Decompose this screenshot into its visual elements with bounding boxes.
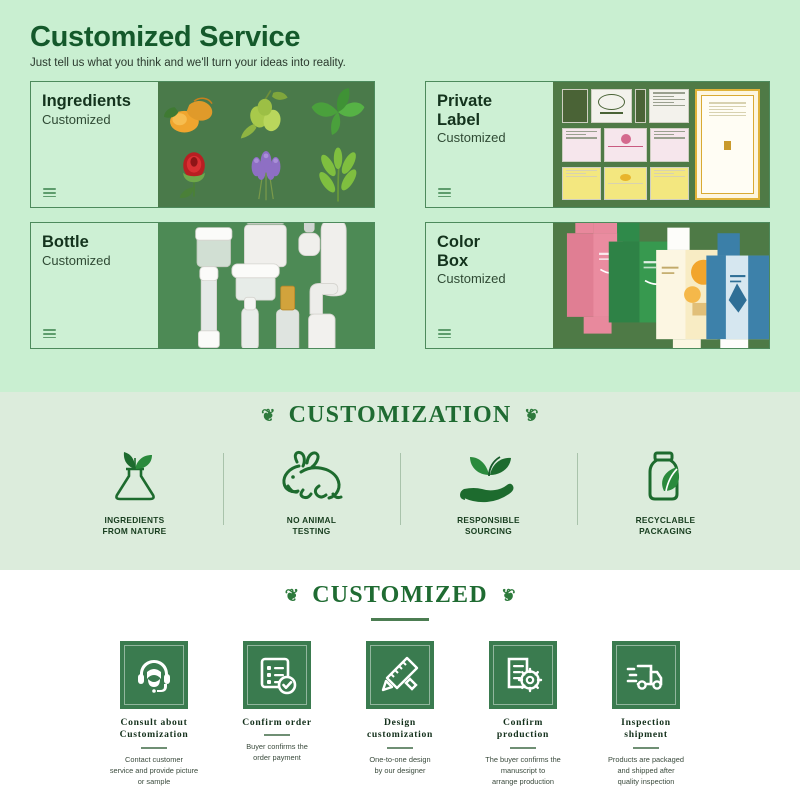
customized-heading: ❦ CUSTOMIZED ❦ [0,582,800,609]
delivery-truck-icon [626,655,666,695]
feature-recyclable-packaging: RECYCLABLE PACKAGING [602,447,730,537]
step-rule [264,734,290,736]
process-step-inspection: Inspection shipment Products are package… [591,641,701,788]
customization-heading-text: CUSTOMIZATION [289,402,512,429]
step-icon-tile [120,641,188,709]
card-title: Bottle [42,233,158,251]
service-card-color-box[interactable]: Color Box Customized [425,222,770,349]
step-icon-tile [366,641,434,709]
rabbit-icon [248,447,376,509]
feature-label: INGREDIENTS FROM NATURE [71,515,199,537]
card-label-panel: Private Label Customized [426,82,553,207]
card-title: Ingredients [42,92,158,110]
label-sheet-row [562,128,689,162]
botanical-ingredients-photo [158,82,374,207]
card-title: Private Label [437,92,553,129]
customization-heading: ❦ CUSTOMIZATION ❦ [0,402,800,429]
lavender-image [230,145,302,208]
leaf-flourish-right-icon: ❦ [523,406,538,426]
customized-process-section: ❦ CUSTOMIZED ❦ [0,570,800,800]
ruler-pencil-icon [380,655,420,695]
bottle-with-leaf-icon [602,447,730,509]
step-rule [141,747,167,749]
service-card-ingredients[interactable]: Ingredients Customized [30,81,375,208]
process-step-design: Design customization One-to-one design b… [345,641,455,788]
step-title: Design customization [345,717,455,743]
step-description: Contact customer service and provide pic… [99,754,209,787]
customized-heading-text: CUSTOMIZED [312,582,488,609]
page-title: Customized Service [30,22,770,52]
hamburger-icon[interactable] [43,329,56,338]
leaf-flourish-right-icon: ❦ [500,586,515,606]
feature-divider [577,453,578,525]
headset-support-icon [134,655,174,695]
document-gear-icon [503,655,543,695]
feature-label: NO ANIMAL TESTING [248,515,376,537]
step-rule [510,747,536,749]
step-description: Products are packaged and shipped after … [591,754,701,787]
red-rose-image [158,145,230,208]
hand-holding-plant-icon [425,447,553,509]
heading-rule [371,618,429,621]
feature-label: RESPONSIBLE SOURCING [425,515,553,537]
step-icon-tile [243,641,311,709]
card-subtitle: Customized [437,131,553,146]
feature-ingredients-from-nature: INGREDIENTS FROM NATURE [71,447,199,537]
process-step-consult: Consult about Customization Contact cust… [99,641,209,788]
step-description: Buyer confirms the order payment [222,741,332,763]
card-subtitle: Customized [437,272,553,287]
leaf-flourish-left-icon: ❦ [285,586,300,606]
step-title: Consult about Customization [99,717,209,743]
hamburger-icon[interactable] [438,188,451,197]
feature-divider [400,453,401,525]
step-rule [387,747,413,749]
step-description: One-to-one design by our designer [345,754,455,776]
hamburger-icon[interactable] [438,329,451,338]
service-card-grid: Ingredients Customized [30,81,770,349]
card-label-panel: Color Box Customized [426,223,553,348]
hero-section: Customized Service Just tell us what you… [0,0,800,392]
feature-divider [223,453,224,525]
customized-service-page: Customized Service Just tell us what you… [0,0,800,800]
step-title: Confirm order [222,717,332,730]
card-title: Color Box [437,233,553,270]
step-title: Inspection shipment [591,717,701,743]
step-description: The buyer confirms the manuscript to arr… [468,754,578,787]
process-step-confirm-production: Confirm production The buyer confirms th… [468,641,578,788]
card-label-panel: Bottle Customized [31,223,158,348]
page-subtitle: Just tell us what you think and we'll tu… [30,57,770,69]
step-rule [633,747,659,749]
private-label-sheets-photo [553,82,769,207]
color-box-cartons-photo [553,223,769,348]
card-subtitle: Customized [42,113,158,128]
checklist-approved-icon [257,655,297,695]
process-step-confirm-order: Confirm order Buyer confirms the order p… [222,641,332,788]
herb-sprig-image [302,145,374,208]
leaf-flourish-left-icon: ❦ [261,406,276,426]
turmeric-image [158,82,230,145]
label-sheet-row [562,167,689,201]
service-card-bottle[interactable]: Bottle Customized [30,222,375,349]
step-icon-tile [489,641,557,709]
step-icon-tile [612,641,680,709]
feature-list: INGREDIENTS FROM NATURE [0,447,800,537]
card-label-panel: Ingredients Customized [31,82,158,207]
feature-responsible-sourcing: RESPONSIBLE SOURCING [425,447,553,537]
service-card-private-label[interactable]: Private Label Customized [425,81,770,208]
label-sheet-row [562,89,689,123]
olives-image [230,82,302,145]
ornate-label-sheet [695,89,760,200]
cosmetic-bottles-photo [158,223,374,348]
mint-leaf-image [302,82,374,145]
feature-label: RECYCLABLE PACKAGING [602,515,730,537]
step-title: Confirm production [468,717,578,743]
flask-with-leaves-icon [71,447,199,509]
process-step-list: Consult about Customization Contact cust… [0,641,800,788]
feature-no-animal-testing: NO ANIMAL TESTING [248,447,376,537]
hamburger-icon[interactable] [43,188,56,197]
card-subtitle: Customized [42,254,158,269]
customization-section: ❦ CUSTOMIZATION ❦ INGREDIE [0,392,800,570]
